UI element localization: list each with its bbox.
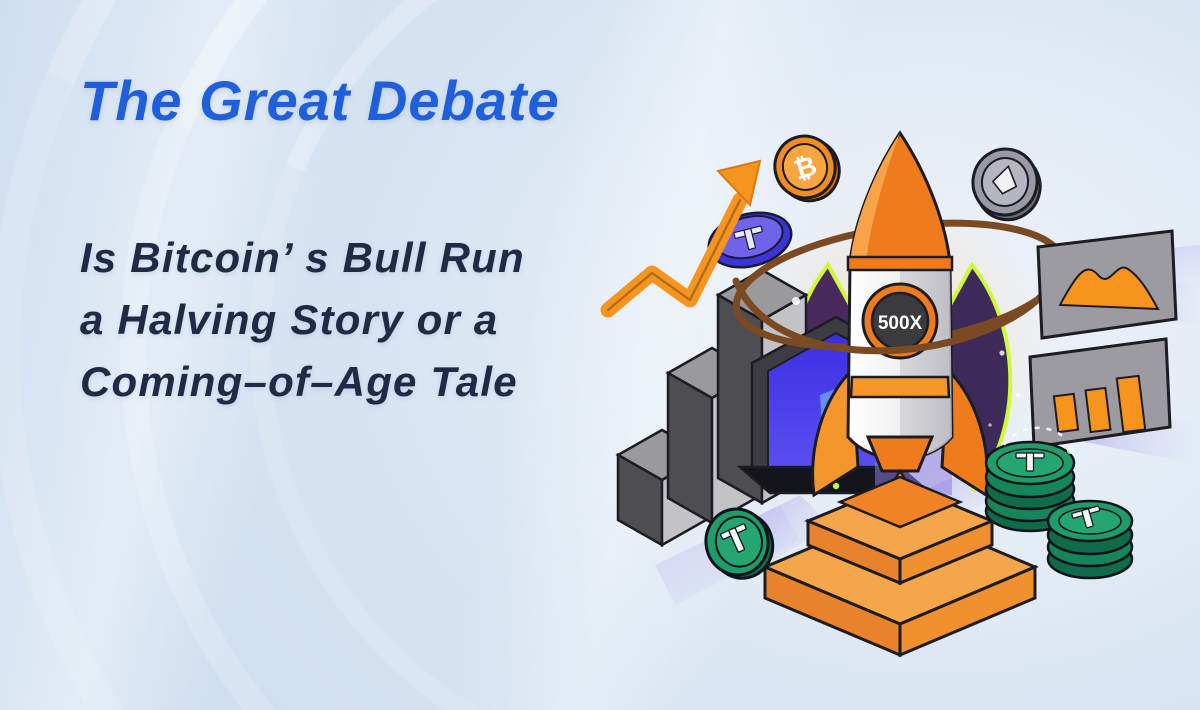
sparkle-dot — [1067, 448, 1073, 454]
promo-banner: The Great Debate Is Bitcoin’ s Bull Run … — [0, 0, 1200, 710]
rocket-band-lower — [851, 377, 949, 397]
rocket-band-upper — [848, 257, 952, 270]
subheadline-line-1: Is Bitcoin’ s Bull Run — [80, 227, 720, 289]
banner-headline: The Great Debate — [80, 72, 720, 131]
bitcoin-coin: ₿ — [767, 127, 847, 209]
sparkle-dot — [792, 297, 800, 305]
banner-copy: The Great Debate Is Bitcoin’ s Bull Run … — [80, 72, 720, 413]
subheadline-line-2: a Halving Story or a — [80, 289, 720, 351]
badge-500x-label: 500X — [878, 313, 923, 334]
banner-subheadline: Is Bitcoin’ s Bull Run a Halving Story o… — [80, 227, 720, 413]
subheadline-line-3: Coming–of–Age Tale — [80, 351, 720, 413]
ethereum-coin — [966, 143, 1047, 226]
area-chart-card — [1038, 231, 1176, 338]
